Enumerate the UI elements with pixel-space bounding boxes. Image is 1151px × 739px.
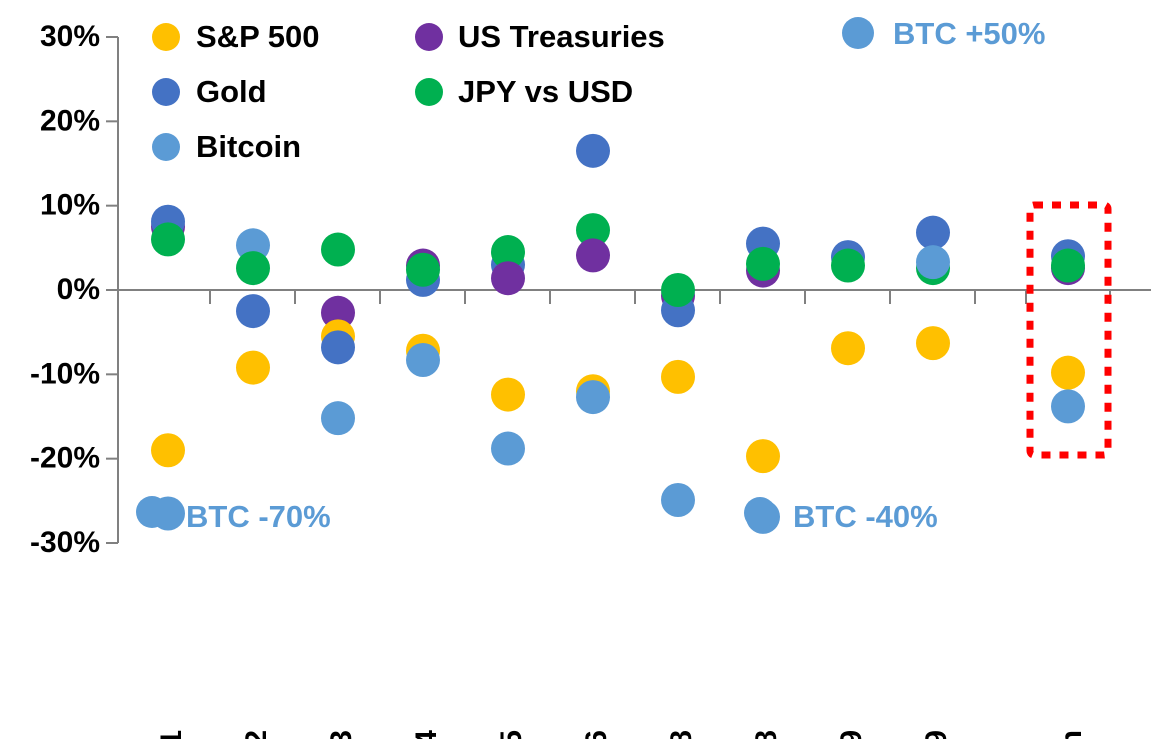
legend-circle-marker-icon[interactable] — [152, 133, 180, 161]
y-axis-tick-labels: 30%20%10%0%-10%-20%-30% — [30, 20, 100, 559]
data-point-marker — [151, 222, 185, 256]
legend-circle-marker-icon[interactable] — [152, 23, 180, 51]
y-axis-tick-label: 0% — [57, 273, 100, 306]
data-point-marker — [916, 216, 950, 250]
y-axis-tick-label: -10% — [30, 357, 100, 390]
data-point-marker — [576, 380, 610, 414]
data-point-marker — [661, 360, 695, 394]
legend-item-label[interactable]: JPY vs USD — [458, 74, 633, 109]
btc-minus-70-annotation-marker — [136, 496, 168, 528]
legend-item-label[interactable]: US Treasuries — [458, 19, 665, 54]
legend-item-label[interactable]: Gold — [196, 74, 267, 109]
data-point-marker — [406, 343, 440, 377]
x-axis-tick-label: Aug-15 — [495, 730, 528, 739]
legend-circle-marker-icon[interactable] — [415, 23, 443, 51]
legend-circle-marker-icon[interactable] — [415, 78, 443, 106]
data-point-marker — [491, 378, 525, 412]
btc-plus-50-annotation-label: BTC +50% — [893, 16, 1045, 51]
data-point-marker — [576, 134, 610, 168]
data-point-marker — [236, 351, 270, 385]
x-axis-tick-label: Feb-18 — [665, 730, 698, 739]
data-point-marker — [236, 251, 270, 285]
legend-item-label[interactable]: S&P 500 — [196, 19, 320, 54]
y-axis-tick-label: 10% — [40, 189, 100, 222]
x-axis-tick-label: Aug-19 — [920, 730, 953, 739]
data-point-marker — [916, 245, 950, 279]
x-axis-tick-label: Median — [1055, 730, 1088, 739]
btc-plus-50-annotation-marker — [842, 17, 874, 49]
data-point-marker — [661, 273, 695, 307]
data-point-marker — [1051, 249, 1085, 283]
btc-minus-40-annotation-label: BTC -40% — [793, 499, 938, 534]
x-axis-tick-label: Aug/Sep-11 — [155, 730, 188, 739]
data-point-marker — [576, 238, 610, 272]
data-point-marker — [406, 253, 440, 287]
data-point-marker — [1051, 356, 1085, 390]
btc-minus-40-annotation-marker — [744, 497, 776, 529]
x-axis-tick-labels: Aug/Sep-11May-12Jun-13Oct-14Aug-15Jan-16… — [155, 730, 1088, 739]
data-point-marker — [831, 331, 865, 365]
legend-circle-marker-icon[interactable] — [152, 78, 180, 106]
data-markers-layer — [151, 134, 1085, 534]
y-axis-ticks — [106, 37, 118, 543]
data-point-marker — [321, 401, 355, 435]
x-axis-tick-label: Oct/Dec-18 — [750, 730, 783, 739]
data-point-marker — [1051, 389, 1085, 423]
x-axis-tick-label: Oct-14 — [410, 730, 443, 739]
data-point-marker — [321, 233, 355, 267]
data-point-marker — [746, 439, 780, 473]
chart-svg: 30%20%10%0%-10%-20%-30% BTC +50%BTC -70%… — [0, 0, 1151, 739]
data-point-marker — [831, 249, 865, 283]
y-axis-tick-label: 30% — [40, 20, 100, 53]
scatter-chart: 30%20%10%0%-10%-20%-30% BTC +50%BTC -70%… — [0, 0, 1151, 739]
data-point-marker — [236, 294, 270, 328]
x-axis-tick-label: Jan-16 — [580, 730, 613, 739]
x-axis-tick-label: May-19 — [835, 730, 868, 739]
data-point-marker — [916, 326, 950, 360]
y-axis-tick-label: -20% — [30, 442, 100, 475]
y-axis-tick-label: 20% — [40, 104, 100, 137]
data-point-marker — [746, 247, 780, 281]
data-point-marker — [491, 261, 525, 295]
x-axis-tick-label: May-12 — [240, 730, 273, 739]
data-point-marker — [491, 432, 525, 466]
legend-item-label[interactable]: Bitcoin — [196, 129, 301, 164]
data-point-marker — [661, 483, 695, 517]
data-point-marker — [321, 330, 355, 364]
x-axis-tick-label: Jun-13 — [325, 730, 358, 739]
y-axis-tick-label: -30% — [30, 526, 100, 559]
btc-minus-70-annotation-label: BTC -70% — [186, 499, 331, 534]
data-point-marker — [151, 433, 185, 467]
